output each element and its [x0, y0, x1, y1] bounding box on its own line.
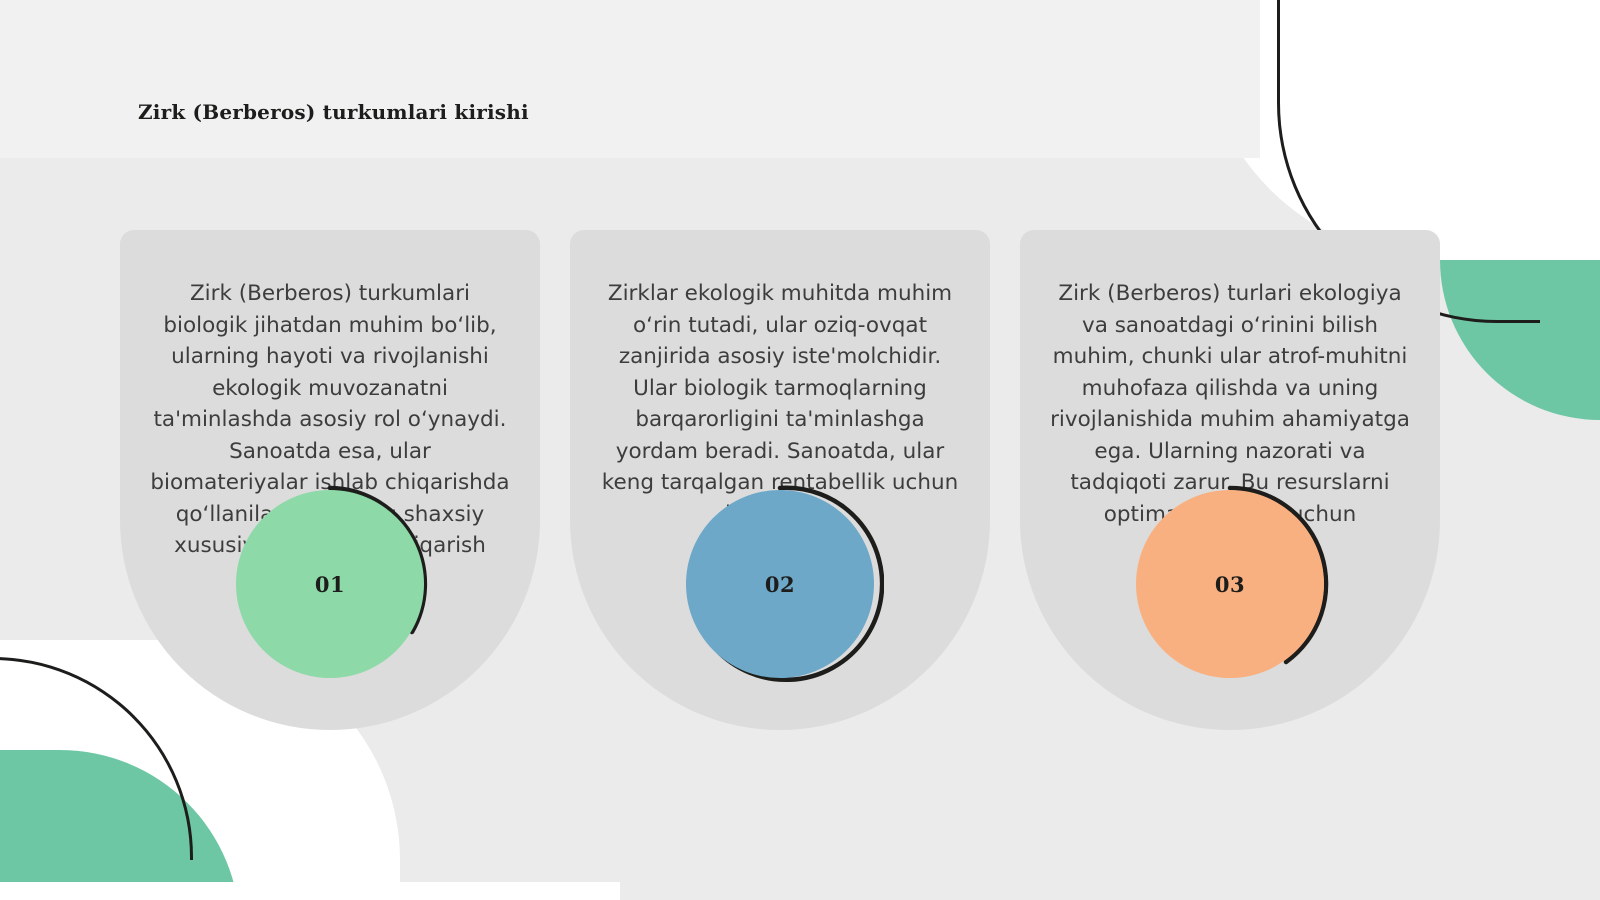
card-03: Zirk (Berberos) turlari ekologiya va san…: [1020, 230, 1440, 730]
badge-circle: 03: [1136, 490, 1324, 678]
card-01: Zirk (Berberos) turkumlari biologik jiha…: [120, 230, 540, 730]
badge-02: 02: [676, 480, 884, 688]
badge-number: 02: [765, 572, 795, 597]
slide-canvas: Zirk (Berberos) turkumlari kirishi Zirk …: [0, 0, 1600, 900]
title-band: [0, 0, 1260, 158]
badge-number: 03: [1215, 572, 1245, 597]
badge-03: 03: [1126, 480, 1334, 688]
decorative-shape-green-bottom-left-2: [0, 750, 240, 900]
decorative-strip-bottom: [0, 882, 620, 900]
badge-circle: 01: [236, 490, 424, 678]
badge-01: 01: [226, 480, 434, 688]
page-title: Zirk (Berberos) turkumlari kirishi: [138, 100, 529, 124]
decorative-shape-white-top-right: [1200, 0, 1600, 260]
decorative-shape-green-top-right-2: [1440, 120, 1600, 420]
badge-circle: 02: [686, 490, 874, 678]
card-02: Zirklar ekologik muhitda muhim o‘rin tut…: [570, 230, 990, 730]
badge-number: 01: [315, 572, 345, 597]
card-list: Zirk (Berberos) turkumlari biologik jiha…: [120, 230, 1460, 740]
